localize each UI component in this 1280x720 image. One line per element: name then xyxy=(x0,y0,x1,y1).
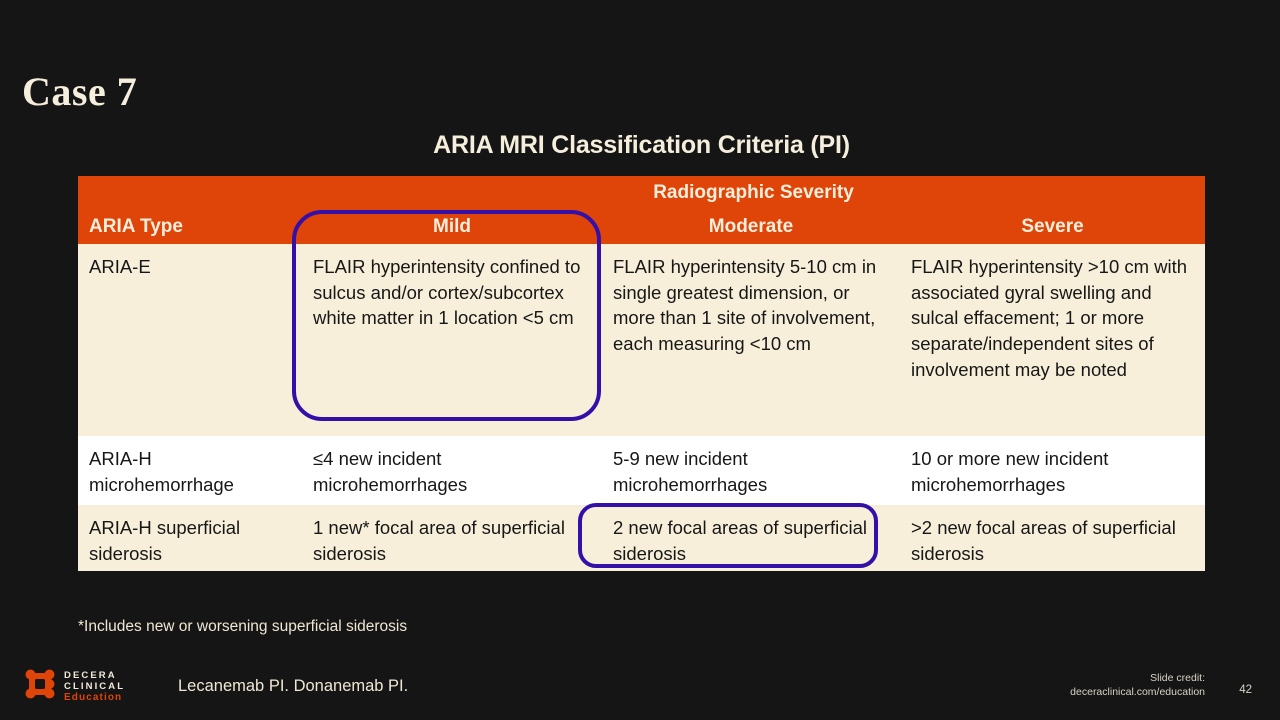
logo-line-decera: DECERA xyxy=(64,670,125,681)
column-group-header-radiographic-severity: Radiographic Severity xyxy=(302,182,1205,204)
column-header-aria-type: ARIA Type xyxy=(78,216,302,238)
cell-aria-type: ARIA-H superficial siderosis xyxy=(78,505,302,571)
cell-severe: 10 or more new incident microhemorrhages xyxy=(900,436,1205,505)
table-row: ARIA-H microhemorrhage ≤4 new incident m… xyxy=(78,436,1205,505)
case-title: Case 7 xyxy=(22,68,137,115)
slide-credit-label: Slide credit: xyxy=(1070,671,1205,685)
column-header-row: ARIA Type Mild Moderate Severe xyxy=(78,216,1205,238)
table-row: ARIA-H superficial siderosis 1 new* foca… xyxy=(78,505,1205,571)
cell-mild: ≤4 new incident microhemorrhages xyxy=(302,436,602,505)
column-header-mild: Mild xyxy=(302,216,602,238)
column-header-severe: Severe xyxy=(900,216,1205,238)
cell-moderate: FLAIR hyperintensity 5-10 cm in single g… xyxy=(602,244,900,436)
table-row: ARIA-E FLAIR hyperintensity confined to … xyxy=(78,244,1205,436)
cell-severe: FLAIR hyperintensity >10 cm with associa… xyxy=(900,244,1205,436)
cell-moderate: 5-9 new incident microhemorrhages xyxy=(602,436,900,505)
footnote: *Includes new or worsening superficial s… xyxy=(78,618,407,636)
cell-aria-type: ARIA-E xyxy=(78,244,302,436)
cell-aria-type: ARIA-H microhemorrhage xyxy=(78,436,302,505)
footer-reference: Lecanemab PI. Donanemab PI. xyxy=(178,677,408,696)
table-header: Radiographic Severity ARIA Type Mild Mod… xyxy=(78,176,1205,244)
slide-credit: Slide credit: deceraclinical.com/educati… xyxy=(1070,671,1205,699)
cell-mild: FLAIR hyperintensity confined to sulcus … xyxy=(302,244,602,436)
cell-moderate: 2 new focal areas of superficial sideros… xyxy=(602,505,900,571)
decera-logo-icon xyxy=(24,668,56,700)
cell-mild: 1 new* focal area of superficial sideros… xyxy=(302,505,602,571)
decera-logo-wordmark: DECERA CLINICAL Education xyxy=(64,670,125,704)
table-title: ARIA MRI Classification Criteria (PI) xyxy=(78,131,1205,160)
slide-credit-url: deceraclinical.com/education xyxy=(1070,685,1205,699)
cell-severe: >2 new focal areas of superficial sidero… xyxy=(900,505,1205,571)
slide-canvas: Case 7 ARIA MRI Classification Criteria … xyxy=(0,0,1280,720)
logo-line-clinical: CLINICAL xyxy=(64,681,125,692)
logo-line-education: Education xyxy=(64,692,125,704)
column-header-moderate: Moderate xyxy=(602,216,900,238)
page-number: 42 xyxy=(1239,684,1252,696)
aria-classification-table: Radiographic Severity ARIA Type Mild Mod… xyxy=(78,176,1205,571)
